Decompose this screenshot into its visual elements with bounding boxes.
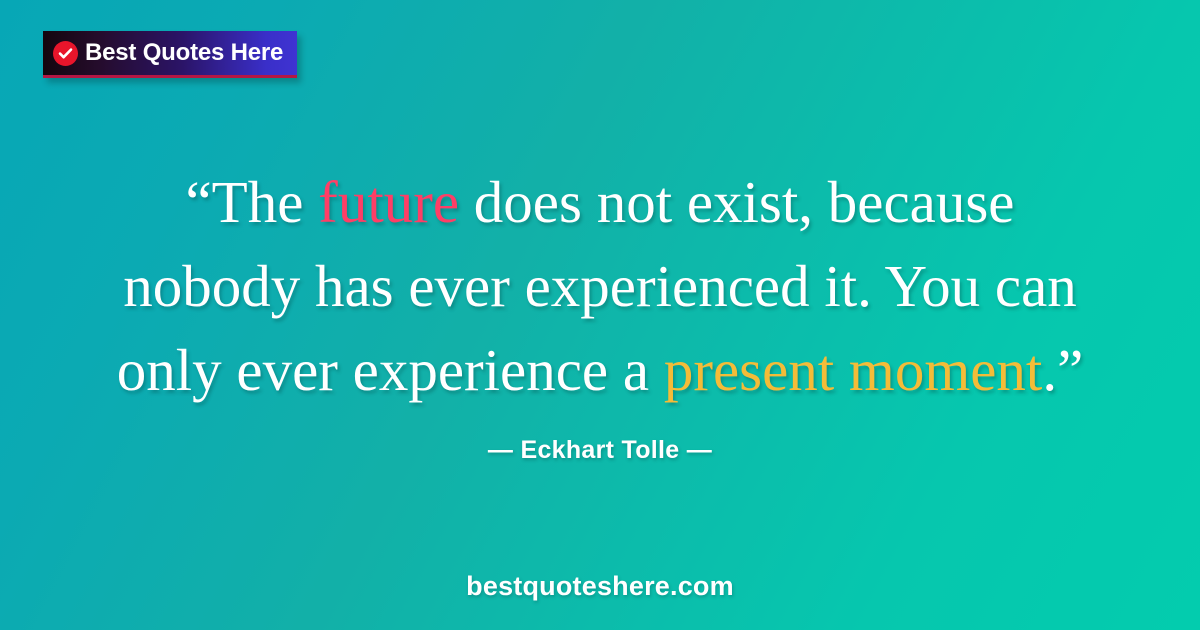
quote-line-1: “The future does not exist, because: [60, 160, 1140, 244]
quote-segment: “The: [186, 169, 319, 235]
quote-segment: .”: [1042, 337, 1083, 403]
quote-segment: nobody has ever experienced it. You can: [123, 253, 1077, 319]
quote-text: “The future does not exist, because nobo…: [0, 160, 1200, 412]
quote-segment: only ever experience a: [117, 337, 664, 403]
quote-highlight-present-moment: present moment: [664, 337, 1043, 403]
check-circle-icon: [53, 41, 78, 66]
quote-line-3: only ever experience a present moment.”: [60, 328, 1140, 412]
quote-highlight-future: future: [318, 169, 459, 235]
quote-line-2: nobody has ever experienced it. You can: [60, 244, 1140, 328]
website-url: bestquoteshere.com: [0, 571, 1200, 602]
brand-badge-label: Best Quotes Here: [85, 41, 283, 65]
quote-author: — Eckhart Tolle —: [0, 436, 1200, 465]
brand-badge[interactable]: Best Quotes Here: [43, 31, 297, 78]
quote-card: Best Quotes Here “The future does not ex…: [0, 0, 1200, 630]
quote-segment: does not exist, because: [459, 169, 1014, 235]
